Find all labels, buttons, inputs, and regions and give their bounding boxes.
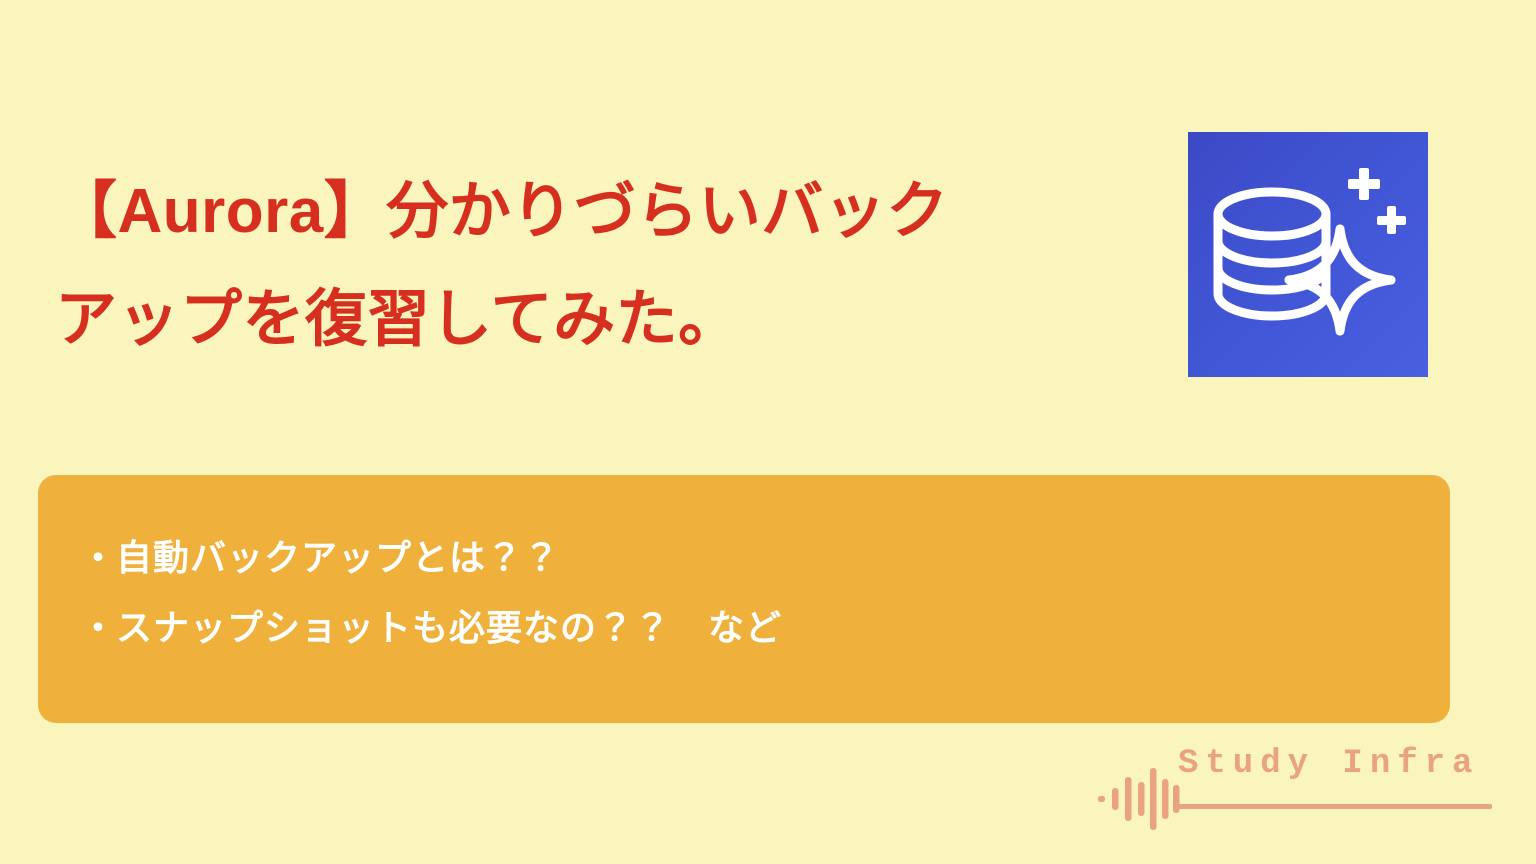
page-title-line-2: アップを復習してみた。: [55, 266, 1115, 374]
list-item: ・ 自動バックアップとは？？: [80, 523, 1410, 593]
aws-aurora-icon: [1188, 132, 1428, 377]
brand-underline: [1177, 804, 1492, 809]
list-item-label: 自動バックアップとは？？: [116, 523, 560, 593]
list-item-label: スナップショットも必要なの？？ など: [116, 593, 782, 663]
bullet-icon: ・: [80, 523, 116, 593]
bullet-icon: ・: [80, 593, 116, 663]
page-title: 【Aurora】分かりづらいバック アップを復習してみた。: [55, 158, 1115, 374]
callout-box: ・ 自動バックアップとは？？ ・ スナップショットも必要なの？？ など: [38, 475, 1450, 723]
list-item: ・ スナップショットも必要なの？？ など: [80, 593, 1410, 663]
slide-canvas: 【Aurora】分かりづらいバック アップを復習してみた。: [0, 0, 1536, 864]
page-title-line-1: 【Aurora】分かりづらいバック: [55, 158, 1115, 266]
brand-logo: Study Infra: [1098, 745, 1498, 840]
callout-bullet-list: ・ 自動バックアップとは？？ ・ スナップショットも必要なの？？ など: [80, 523, 1410, 663]
audio-waveform-icon: [1098, 761, 1184, 837]
brand-name: Study Infra: [1178, 745, 1479, 783]
